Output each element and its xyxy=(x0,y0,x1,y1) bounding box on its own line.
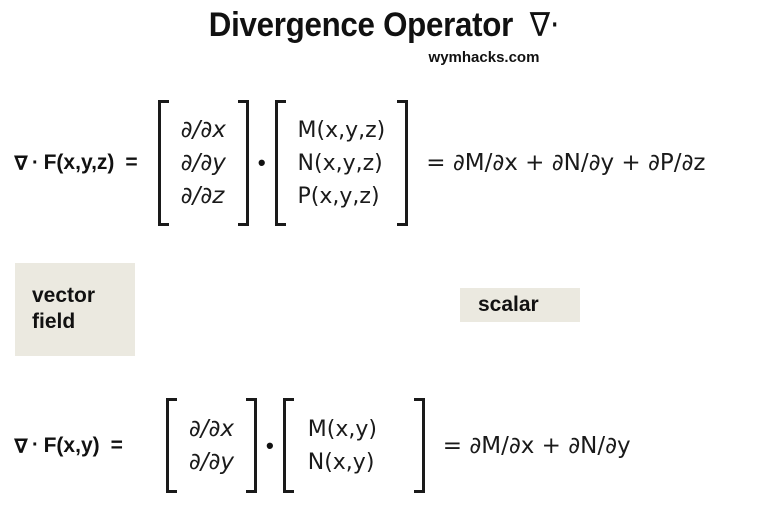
formula-3d-function-label: F(x,y,z) xyxy=(44,151,115,175)
nabla-icon: ∇ xyxy=(14,434,28,458)
formula-divergence-3d: ∇ · F(x,y,z) = ∂/∂x ∂/∂y ∂/∂z • M(x,y,z)… xyxy=(14,100,705,226)
formula-divergence-2d: ∇ · F(x,y) = ∂/∂x ∂/∂y • M(x,y) N(x,y) =… xyxy=(14,398,631,493)
callout-vector-field-line1: vector xyxy=(32,283,95,309)
bracket-left-icon xyxy=(275,100,288,226)
formula-3d-equals-sign: = xyxy=(125,151,137,175)
formula-2d-lhs: ∇ · F(x,y) = xyxy=(14,434,123,458)
matrix-row: ∂/∂x xyxy=(189,413,234,446)
matrix-row: P(x,y,z) xyxy=(298,180,386,213)
callout-vector-field: vector field xyxy=(15,263,135,356)
field-matrix-3d-body: M(x,y,z) N(x,y,z) P(x,y,z) xyxy=(288,100,396,226)
nabla-dot-icon: ∇· xyxy=(530,5,559,44)
field-matrix-3d: M(x,y,z) N(x,y,z) P(x,y,z) xyxy=(275,100,409,226)
formula-2d-result: = ∂M/∂x + ∂N/∂y xyxy=(443,433,631,459)
operator-matrix-2d-body: ∂/∂x ∂/∂y xyxy=(179,398,244,493)
bracket-right-icon xyxy=(395,100,408,226)
operator-matrix-3d: ∂/∂x ∂/∂y ∂/∂z xyxy=(158,100,249,226)
bracket-right-icon xyxy=(244,398,257,493)
formula-3d-result: = ∂M/∂x + ∂N/∂y + ∂P/∂z xyxy=(426,150,705,176)
dot-operator-icon: · xyxy=(32,152,39,175)
matrix-row: ∂/∂x xyxy=(181,114,226,147)
formula-2d-equals-sign: = xyxy=(111,434,123,458)
matrix-row: N(x,y) xyxy=(308,446,400,479)
bracket-right-icon xyxy=(236,100,249,226)
dot-operator-icon: · xyxy=(32,434,39,457)
callout-vector-field-line2: field xyxy=(32,309,95,335)
operator-matrix-3d-body: ∂/∂x ∂/∂y ∂/∂z xyxy=(171,100,236,226)
field-matrix-2d-body: M(x,y) N(x,y) xyxy=(296,398,412,493)
field-matrix-2d: M(x,y) N(x,y) xyxy=(283,398,425,493)
matrix-row: N(x,y,z) xyxy=(298,147,386,180)
bracket-right-icon xyxy=(412,398,425,493)
matrix-row: ∂/∂y xyxy=(181,147,226,180)
formula-3d-lhs: ∇ · F(x,y,z) = xyxy=(14,151,138,175)
nabla-icon: ∇ xyxy=(14,151,28,175)
matrix-row: M(x,y) xyxy=(308,413,400,446)
operator-matrix-2d: ∂/∂x ∂/∂y xyxy=(166,398,257,493)
callout-scalar: scalar xyxy=(460,288,580,322)
site-credit: wymhacks.com xyxy=(0,49,768,66)
bracket-left-icon xyxy=(166,398,179,493)
page-title: Divergence Operator ∇· xyxy=(31,5,738,45)
formula-2d-function-label: F(x,y) xyxy=(44,434,100,458)
matrix-row: ∂/∂z xyxy=(181,180,226,213)
bracket-left-icon xyxy=(283,398,296,493)
header: Divergence Operator ∇· wymhacks.com xyxy=(0,0,768,80)
matrix-row: M(x,y,z) xyxy=(298,114,386,147)
page-title-text: Divergence Operator xyxy=(209,6,513,44)
bracket-left-icon xyxy=(158,100,171,226)
dot-product-icon: • xyxy=(258,150,266,176)
dot-product-icon: • xyxy=(266,433,274,459)
matrix-row: ∂/∂y xyxy=(189,446,234,479)
